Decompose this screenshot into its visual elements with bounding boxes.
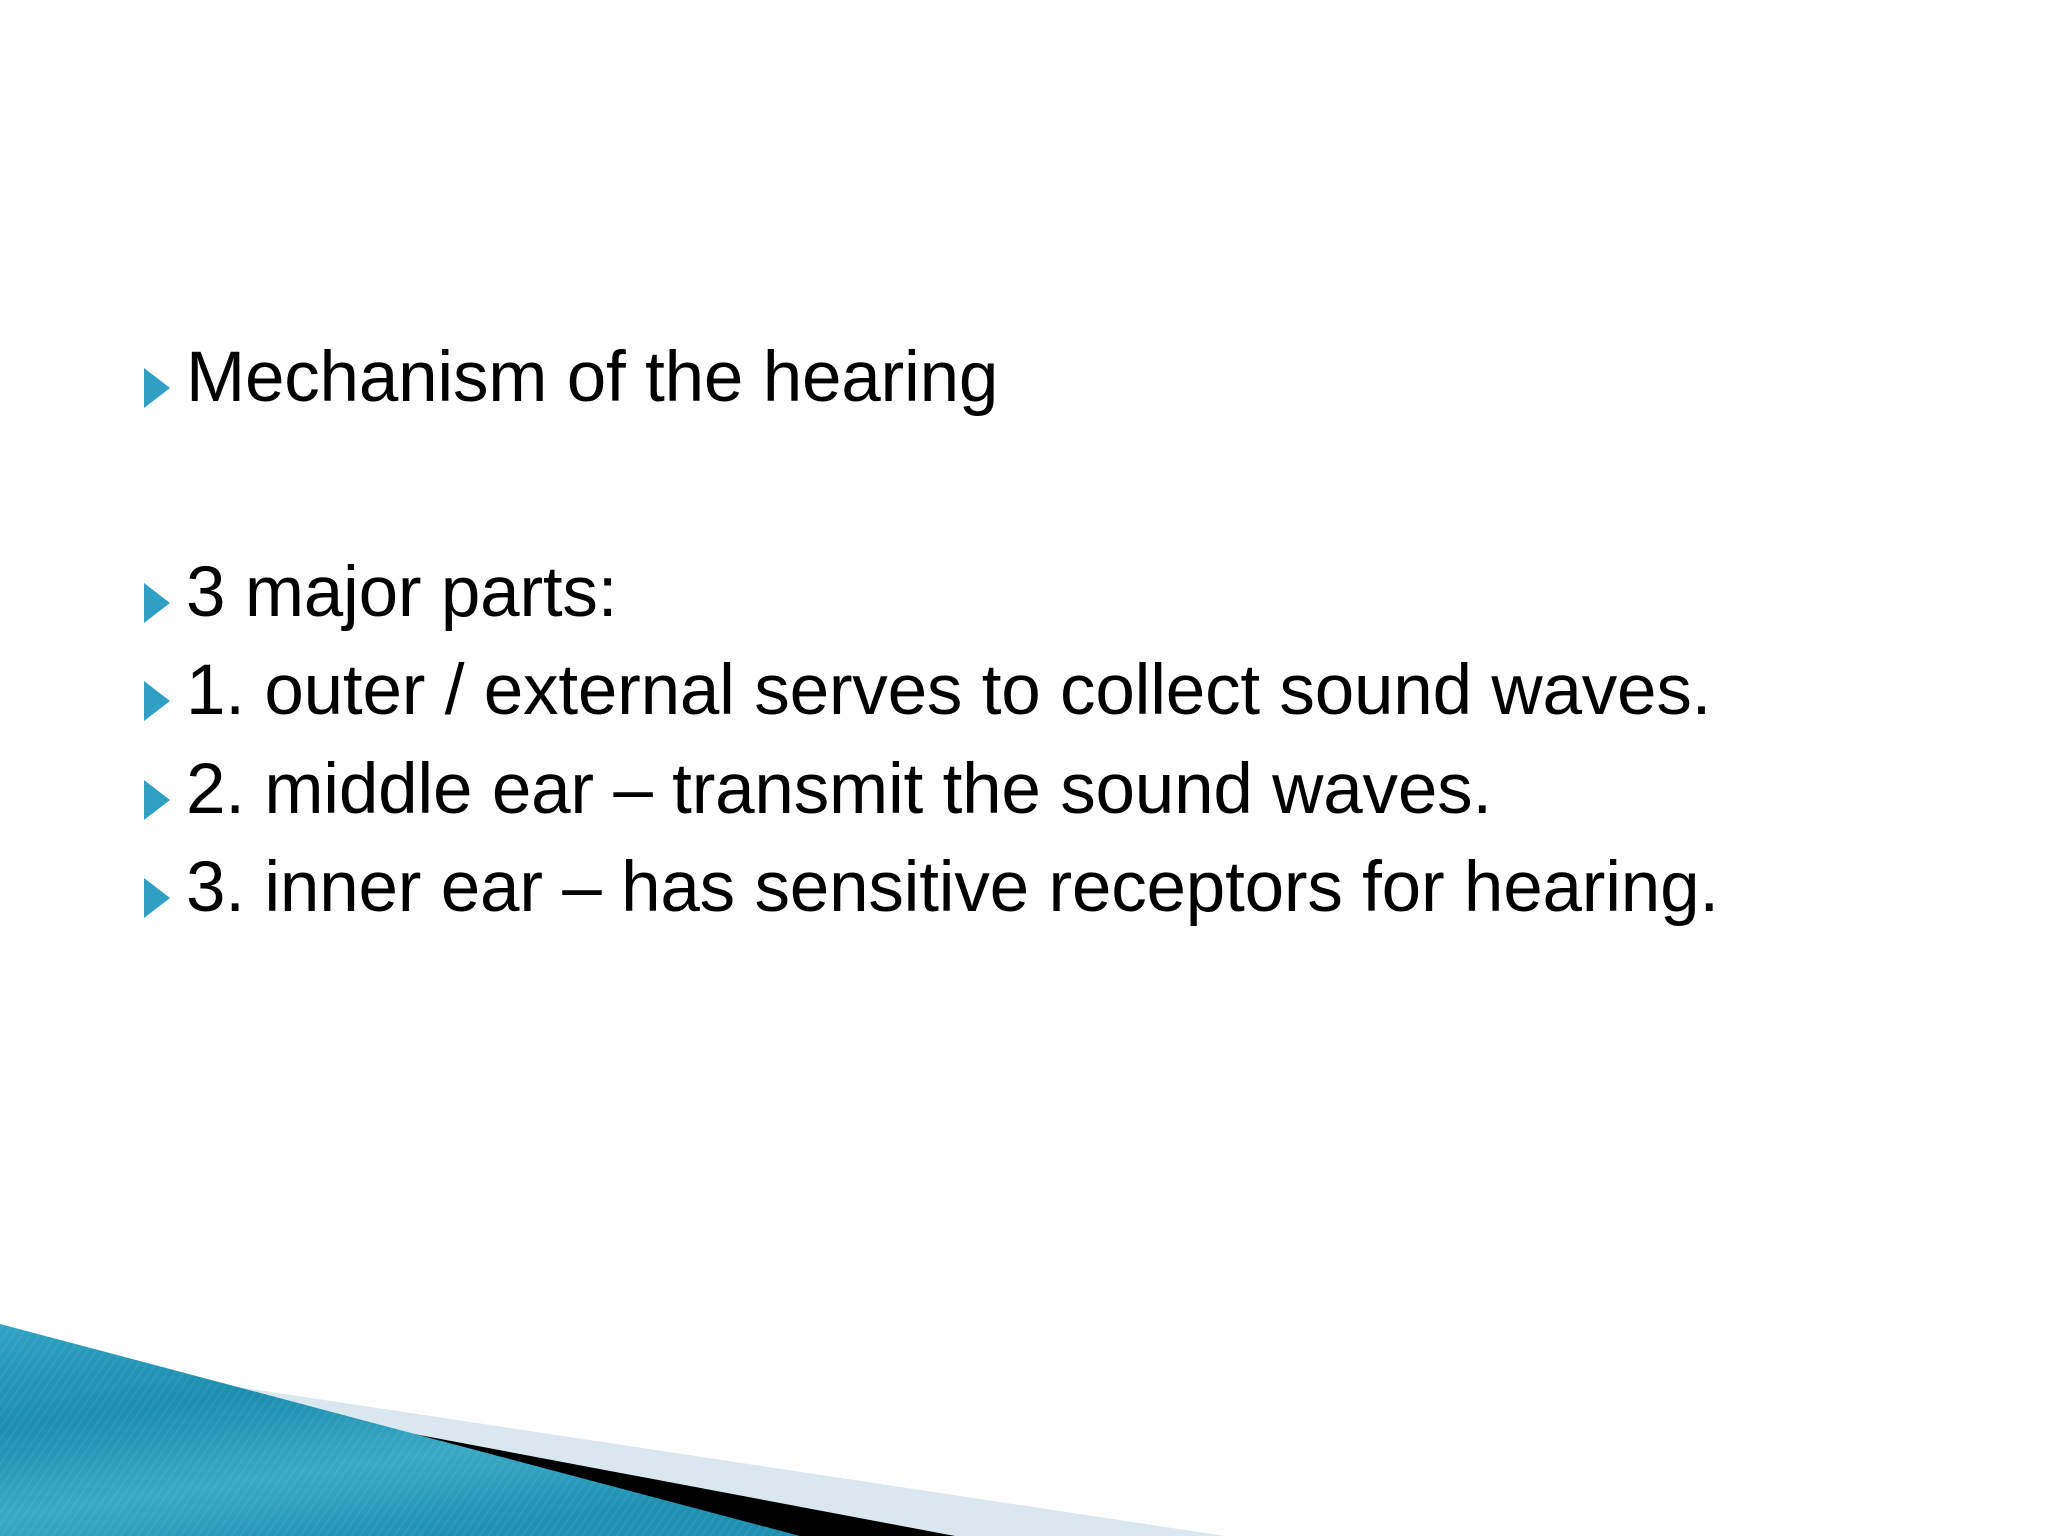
ribbon-wedge-texture	[0, 1324, 800, 1536]
slide-canvas: Mechanism of the hearing 3 major parts: …	[0, 0, 2048, 1536]
bullet-item-inner-ear[interactable]: 3. inner ear – has sensitive receptors f…	[140, 840, 1920, 937]
bullet-item-outer-ear[interactable]: 1. outer / external serves to collect so…	[140, 643, 1920, 740]
ribbon-stripe-pale	[0, 1351, 1225, 1536]
slide-body-placeholder: Mechanism of the hearing 3 major parts: …	[140, 330, 1920, 939]
triangle-right-icon	[140, 778, 186, 822]
triangle-right-icon	[140, 876, 186, 920]
bullet-item-middle-ear[interactable]: 2. middle ear – transmit the sound waves…	[140, 742, 1920, 839]
triangle-right-icon	[140, 679, 186, 723]
bullet-text-middle-ear: 2. middle ear – transmit the sound waves…	[186, 742, 1920, 839]
bullet-text-major-parts: 3 major parts:	[186, 545, 1920, 642]
bullet-item-major-parts[interactable]: 3 major parts:	[140, 545, 1920, 642]
ribbon-stripe-black	[0, 1356, 955, 1536]
bullet-text-outer-ear: 1. outer / external serves to collect so…	[186, 643, 1920, 740]
triangle-right-icon	[140, 366, 186, 410]
bullet-item-mechanism[interactable]: Mechanism of the hearing	[140, 330, 1920, 427]
corner-ribbon-decoration	[0, 1206, 1320, 1536]
triangle-right-icon	[140, 581, 186, 625]
bullet-text-mechanism: Mechanism of the hearing	[186, 330, 1920, 427]
bullet-text-inner-ear: 3. inner ear – has sensitive receptors f…	[186, 840, 1920, 937]
ribbon-wedge-teal	[0, 1324, 800, 1536]
